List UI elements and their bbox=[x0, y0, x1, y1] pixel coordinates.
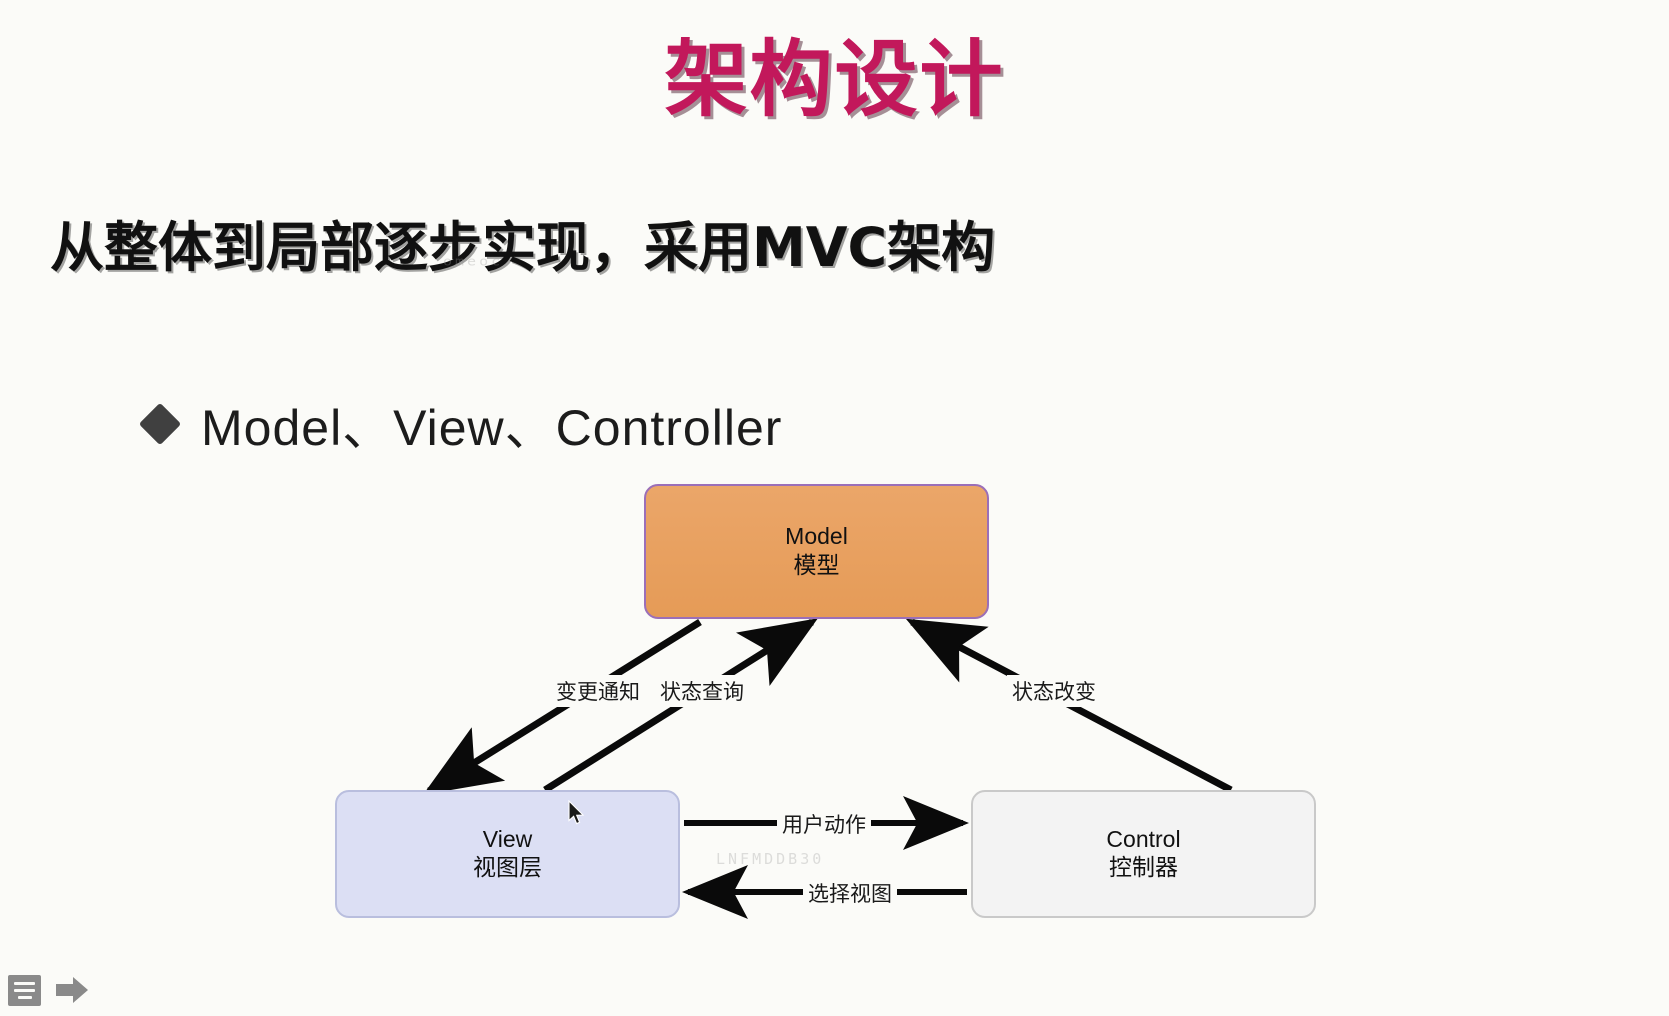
slide-subtitle: 从整体到局部逐步实现，采用MVC架构 bbox=[50, 203, 995, 282]
next-arrow-icon[interactable] bbox=[54, 974, 90, 1006]
notes-icon-line bbox=[14, 982, 35, 985]
edge-label-notify: 变更通知 bbox=[551, 675, 645, 707]
edge-label-query: 状态查询 bbox=[655, 675, 749, 707]
edge-label-select: 选择视图 bbox=[803, 877, 897, 909]
watermark-middle: LNFMDDB30 bbox=[716, 850, 824, 868]
node-model-title-en: Model bbox=[785, 522, 848, 551]
mouse-cursor bbox=[568, 800, 586, 826]
node-model-title-cn: 模型 bbox=[794, 552, 840, 581]
edge-label-action: 用户动作 bbox=[777, 808, 871, 840]
bullet-list-item: Model、View、Controller bbox=[145, 388, 782, 460]
node-control-title-en: Control bbox=[1106, 825, 1180, 854]
node-view-title-cn: 视图层 bbox=[473, 854, 542, 883]
diagram-node-view[interactable]: View 视图层 bbox=[335, 790, 680, 918]
bottom-toolbar bbox=[8, 974, 90, 1006]
page-title: 架构设计 bbox=[0, 34, 1669, 125]
presentation-slide: 架构设计 从整体到局部逐步实现，采用MVC架构 omeoc LNFMDDB30 … bbox=[0, 0, 1669, 1016]
diagram-node-model[interactable]: Model 模型 bbox=[644, 484, 989, 619]
diamond-bullet-icon bbox=[139, 403, 181, 445]
edge-label-change: 状态改变 bbox=[1007, 675, 1101, 707]
mvc-diagram: Model 模型 View 视图层 Control 控制器 变更通知 状态查询 … bbox=[0, 0, 1669, 1016]
node-view-title-en: View bbox=[483, 825, 532, 854]
notes-icon-line bbox=[18, 996, 32, 999]
diagram-node-control[interactable]: Control 控制器 bbox=[971, 790, 1316, 918]
node-control-title-cn: 控制器 bbox=[1109, 854, 1178, 883]
notes-icon[interactable] bbox=[8, 975, 41, 1006]
bullet-item-label: Model、View、Controller bbox=[201, 388, 782, 460]
notes-icon-line bbox=[14, 989, 35, 992]
